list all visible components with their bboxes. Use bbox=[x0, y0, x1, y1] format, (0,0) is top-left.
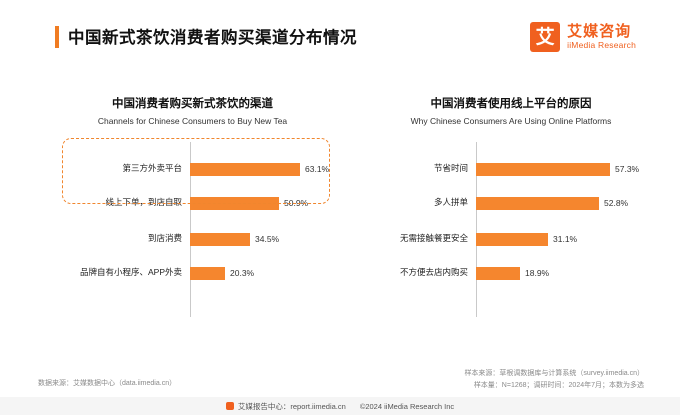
left-chart-subtitle: Channels for Chinese Consumers to Buy Ne… bbox=[40, 116, 345, 128]
left-bar-row-2: 到店消费 34.5% bbox=[40, 224, 345, 254]
logo-name-cn: 艾媒咨询 bbox=[567, 23, 636, 40]
right-bar-value-1: 52.8% bbox=[604, 198, 628, 208]
left-bar-value-1: 50.9% bbox=[284, 198, 308, 208]
right-category-label-3: 不方便去店内购买 bbox=[366, 267, 476, 278]
right-bar-wrap-1: 52.8% bbox=[476, 188, 656, 218]
right-bar-value-2: 31.1% bbox=[553, 234, 577, 244]
logo-mark-small-icon bbox=[226, 402, 234, 410]
title-accent-bar bbox=[55, 26, 59, 48]
left-bar-wrap-1: 50.9% bbox=[190, 188, 345, 218]
right-bar-0 bbox=[476, 163, 610, 176]
slide-root: 中国新式茶饮消费者购买渠道分布情况 艾 艾媒咨询 iiMedia Researc… bbox=[0, 0, 680, 415]
right-chart-title: 中国消费者使用线上平台的原因 bbox=[366, 96, 656, 113]
source-note-right-line2: 样本量：N=1268；调研时间：2024年7月；本数为多选 bbox=[464, 380, 644, 392]
header: 中国新式茶饮消费者购买渠道分布情况 艾 艾媒咨询 iiMedia Researc… bbox=[0, 0, 680, 80]
left-bar-0 bbox=[190, 163, 300, 176]
right-chart-panel: 中国消费者使用线上平台的原因 Why Chinese Consumers Are… bbox=[366, 96, 656, 317]
source-note-right: 样本来源：草根调数据库与计算系统（survey.iimedia.cn） 样本量：… bbox=[464, 368, 644, 391]
logo-text: 艾媒咨询 iiMedia Research bbox=[567, 23, 636, 50]
report-center-link[interactable]: 艾媒报告中心：report.iimedia.cn bbox=[226, 401, 346, 412]
left-category-label-0: 第三方外卖平台 bbox=[40, 163, 190, 174]
right-category-label-0: 节省时间 bbox=[366, 163, 476, 174]
right-bar-row-0: 节省时间 57.3% bbox=[366, 154, 656, 184]
left-bar-row-1: 线上下单，到店自取 50.9% bbox=[40, 188, 345, 218]
right-bar-row-1: 多人拼单 52.8% bbox=[366, 188, 656, 218]
right-bar-chart: 节省时间 57.3% 多人拼单 52.8% 无需接触餐更安全 31.1% bbox=[366, 142, 656, 317]
right-category-label-1: 多人拼单 bbox=[366, 197, 476, 208]
left-bar-wrap-0: 63.1% bbox=[190, 154, 345, 184]
left-bar-row-0: 第三方外卖平台 63.1% bbox=[40, 154, 345, 184]
bottom-bar: 艾媒报告中心：report.iimedia.cn ©2024 iiMedia R… bbox=[0, 397, 680, 415]
left-bar-row-3: 品牌自有小程序、APP外卖 20.3% bbox=[40, 258, 345, 288]
page-title: 中国新式茶饮消费者购买渠道分布情况 bbox=[68, 24, 357, 48]
right-bar-value-0: 57.3% bbox=[615, 164, 639, 174]
logo-name-en: iiMedia Research bbox=[567, 41, 636, 51]
left-chart-title: 中国消费者购买新式茶饮的渠道 bbox=[40, 96, 345, 113]
right-bar-row-3: 不方便去店内购买 18.9% bbox=[366, 258, 656, 288]
left-bar-2 bbox=[190, 233, 250, 246]
source-note-right-line1: 样本来源：草根调数据库与计算系统（survey.iimedia.cn） bbox=[464, 368, 644, 380]
left-bar-value-2: 34.5% bbox=[255, 234, 279, 244]
right-chart-subtitle: Why Chinese Consumers Are Using Online P… bbox=[366, 116, 656, 128]
left-bar-3 bbox=[190, 267, 225, 280]
left-chart-panel: 中国消费者购买新式茶饮的渠道 Channels for Chinese Cons… bbox=[40, 96, 345, 317]
source-note-left: 数据来源：艾媒数据中心（data.iimedia.cn） bbox=[38, 378, 176, 388]
right-bar-wrap-0: 57.3% bbox=[476, 154, 656, 184]
right-bar-1 bbox=[476, 197, 599, 210]
right-bar-2 bbox=[476, 233, 548, 246]
left-bar-wrap-3: 20.3% bbox=[190, 258, 345, 288]
brand-logo: 艾 艾媒咨询 iiMedia Research bbox=[530, 22, 636, 52]
right-category-label-2: 无需接触餐更安全 bbox=[366, 233, 476, 244]
left-bar-value-0: 63.1% bbox=[305, 164, 329, 174]
left-bar-value-3: 20.3% bbox=[230, 268, 254, 278]
right-bar-value-3: 18.9% bbox=[525, 268, 549, 278]
left-bar-chart: 第三方外卖平台 63.1% 线上下单，到店自取 50.9% 到店消费 34.5% bbox=[40, 142, 345, 317]
right-bar-wrap-3: 18.9% bbox=[476, 258, 656, 288]
left-bar-wrap-2: 34.5% bbox=[190, 224, 345, 254]
report-center-text: 艾媒报告中心：report.iimedia.cn bbox=[238, 401, 346, 412]
right-bar-3 bbox=[476, 267, 520, 280]
left-category-label-3: 品牌自有小程序、APP外卖 bbox=[40, 267, 190, 278]
logo-mark-icon: 艾 bbox=[530, 22, 560, 52]
left-category-label-1: 线上下单，到店自取 bbox=[40, 197, 190, 208]
right-bar-wrap-2: 31.1% bbox=[476, 224, 656, 254]
left-bar-1 bbox=[190, 197, 279, 210]
left-category-label-2: 到店消费 bbox=[40, 233, 190, 244]
right-bar-row-2: 无需接触餐更安全 31.1% bbox=[366, 224, 656, 254]
copyright-text: ©2024 iiMedia Research Inc bbox=[360, 402, 454, 411]
